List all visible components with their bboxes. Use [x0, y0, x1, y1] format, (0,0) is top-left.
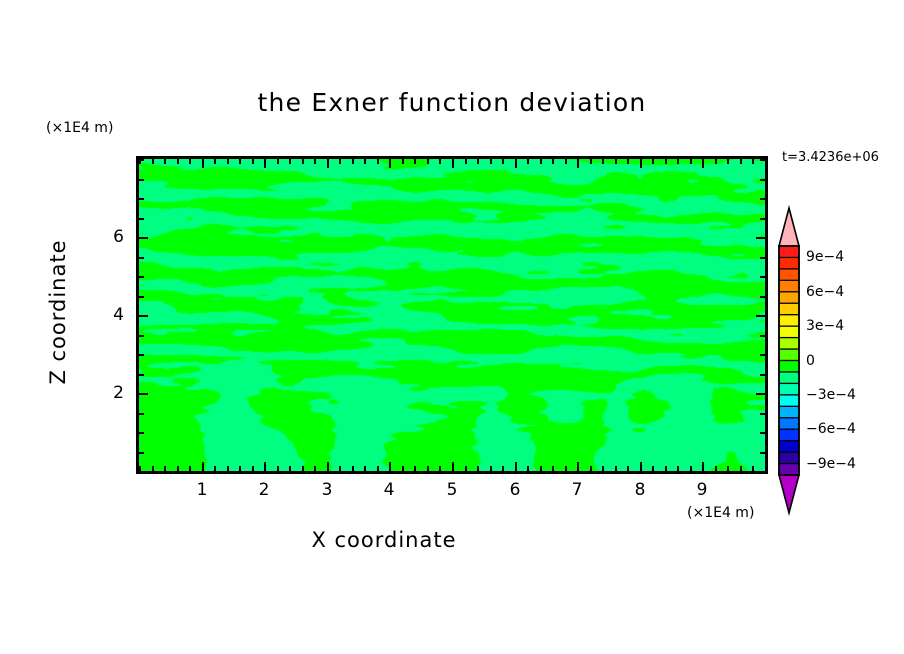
colorbar-band: [779, 452, 799, 464]
colorbar-band: [779, 395, 799, 407]
colorbar-band: [779, 418, 799, 430]
colorbar-band: [779, 429, 799, 441]
contour-plot-area: [136, 156, 768, 474]
colorbar-band: [779, 292, 799, 304]
colorbar-band: [779, 257, 799, 269]
colorbar-tick-label: 0: [806, 353, 815, 369]
x-axis-tick-label: 6: [510, 480, 521, 500]
colorbar-tick-label: 9e−4: [806, 249, 844, 265]
colorbar-band: [779, 326, 799, 338]
colorbar-band: [779, 338, 799, 350]
x-axis-tick-label: 4: [384, 480, 395, 500]
colorbar-band: [779, 269, 799, 281]
x-axis-title: X coordinate: [0, 528, 768, 552]
colorbar-tick-label: −6e−4: [806, 421, 856, 437]
x-axis-tick-label: 7: [572, 480, 583, 500]
x-axis-tick-label: 9: [697, 480, 708, 500]
page-title: the Exner function deviation: [0, 88, 904, 117]
colorbar-band: [779, 464, 799, 476]
y-axis-unit-label: (×1E4 m): [46, 120, 113, 136]
colorbar-band: [779, 280, 799, 292]
colorbar-band: [779, 303, 799, 315]
y-axis-title: Z coordinate: [46, 192, 70, 432]
x-axis-tick-label: 8: [635, 480, 646, 500]
colorbar-tick-label: 6e−4: [806, 284, 844, 300]
colorbar-band: [779, 315, 799, 327]
colorbar-band: [779, 246, 799, 258]
colorbar-band: [779, 383, 799, 395]
colorbar-band: [779, 406, 799, 418]
colorbar-tick-label: 3e−4: [806, 318, 844, 334]
y-axis-tick-label: 4: [94, 305, 124, 325]
colorbar-under-arrow: [779, 475, 799, 513]
y-axis-tick-label: 2: [94, 383, 124, 403]
colorbar: 9e−46e−43e−40−3e−4−6e−4−9e−4: [770, 205, 904, 517]
colorbar-tick-label: −3e−4: [806, 387, 856, 403]
contour-field-canvas: [139, 159, 765, 471]
colorbar-band: [779, 372, 799, 384]
timestamp-annotation: t=3.4236e+06: [782, 150, 879, 165]
colorbar-band: [779, 361, 799, 373]
x-axis-tick-label: 2: [259, 480, 270, 500]
x-axis-unit-label: (×1E4 m): [687, 505, 754, 521]
y-axis-tick-label: 6: [94, 227, 124, 247]
x-axis-tick-label: 5: [447, 480, 458, 500]
colorbar-band: [779, 441, 799, 453]
x-axis-tick-label: 3: [322, 480, 333, 500]
x-axis-tick-label: 1: [197, 480, 208, 500]
colorbar-over-arrow: [779, 208, 799, 246]
colorbar-band: [779, 349, 799, 361]
colorbar-tick-label: −9e−4: [806, 456, 856, 472]
